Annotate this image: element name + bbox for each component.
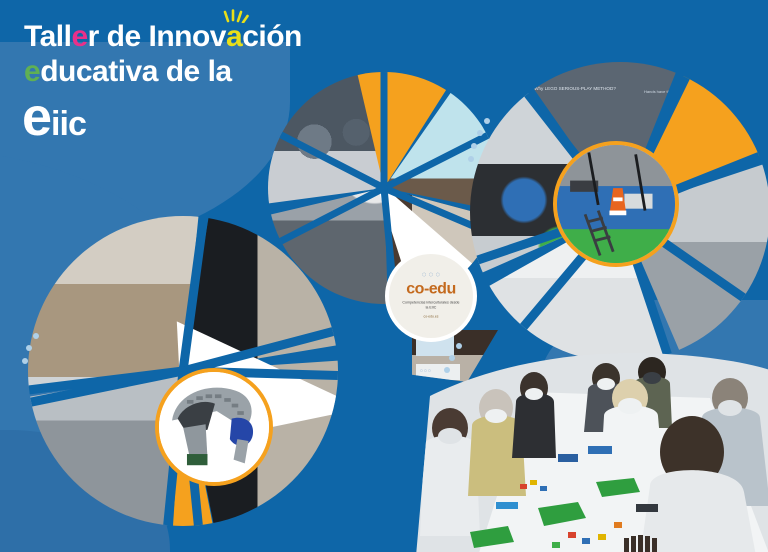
dots-center-right bbox=[468, 118, 494, 166]
title-segment-r-de-innov: r de Innov bbox=[88, 20, 226, 53]
co-edu-title: co-edu bbox=[389, 281, 473, 299]
title-letter-a-glyph: a bbox=[226, 20, 242, 53]
eiic-logo-iic: iic bbox=[51, 102, 86, 146]
co-edu-poster-image: ◌ ◌ ◌ co-edu Competencias interculturale… bbox=[389, 254, 473, 338]
title-line-1: Taller de Innovación bbox=[24, 22, 302, 53]
title-segment-tall: Tall bbox=[24, 20, 71, 53]
title-line-2: educativa de la bbox=[24, 57, 302, 88]
eiic-logo-e: e bbox=[22, 95, 50, 139]
title-letter-a-yellow: a bbox=[226, 22, 242, 53]
co-edu-subtitle: Competencias interculturales desde la EI… bbox=[389, 299, 473, 312]
title-segment-ducativa: ducativa de la bbox=[40, 55, 231, 88]
co-edu-tag: co-edu.es bbox=[389, 311, 473, 318]
lego-sculpture-illustration bbox=[159, 372, 269, 482]
title-segment-cion: ción bbox=[242, 20, 302, 53]
title-letter-e-pink: e bbox=[71, 20, 87, 53]
lego-build-inset bbox=[553, 141, 679, 267]
lego-table-group-photo bbox=[410, 336, 768, 552]
eiic-logo: e iic bbox=[22, 95, 86, 146]
lego-sculpture-image bbox=[159, 372, 269, 482]
poster-canvas: Taller de Innovación educativa de la e i… bbox=[0, 0, 768, 552]
lego-build-illustration bbox=[557, 145, 675, 263]
dots-left bbox=[22, 333, 46, 369]
lego-build-image bbox=[557, 145, 675, 263]
lego-sculpture-inset bbox=[155, 368, 273, 486]
title-letter-e-green: e bbox=[24, 55, 40, 88]
poster-title: Taller de Innovación educativa de la bbox=[24, 22, 302, 87]
lego-table-illustration bbox=[410, 336, 768, 552]
co-edu-poster-inset: ◌ ◌ ◌ co-edu Competencias interculturale… bbox=[385, 250, 477, 342]
